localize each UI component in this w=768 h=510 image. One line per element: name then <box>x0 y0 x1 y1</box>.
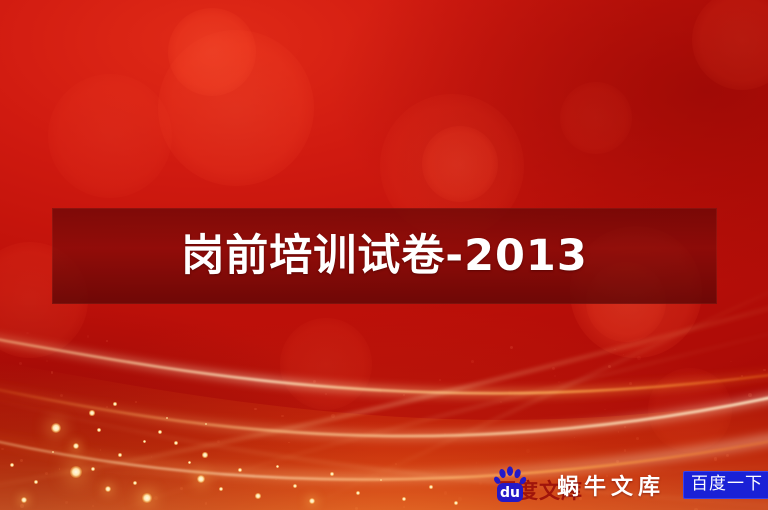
watermark-bar: 百度文库 du 蜗牛文库 百度一下 <box>489 466 768 504</box>
document-cover-page: 岗前培训试卷-2013 百度文库 du 蜗牛文库 百度一下 <box>0 0 768 510</box>
title-banner: 岗前培训试卷-2013 <box>52 208 717 304</box>
baidu-paw-icon[interactable]: du <box>489 466 531 504</box>
baidu-search-button[interactable]: 百度一下 <box>683 471 768 500</box>
baidu-logo-label: du <box>500 485 520 501</box>
site-name-label: 蜗牛文库 <box>557 469 665 501</box>
page-title: 岗前培训试卷-2013 <box>181 235 588 278</box>
